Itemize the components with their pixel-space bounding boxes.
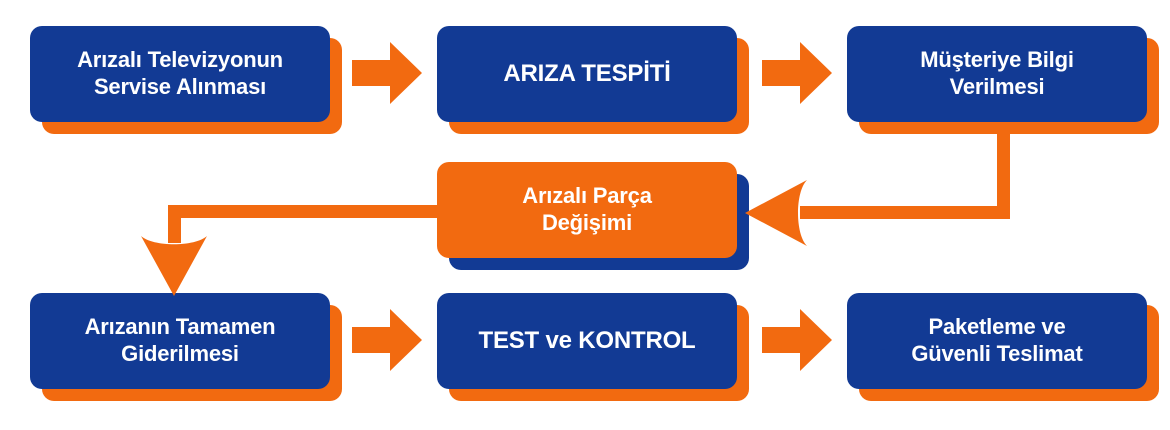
connector-replacement-to-resolved-horizontal	[168, 205, 448, 218]
node-fault-detection-label: ARIZA TESPİTİ	[493, 59, 680, 88]
node-test-control[interactable]: TEST ve KONTROL	[437, 293, 737, 389]
node-fault-detection[interactable]: ARIZA TESPİTİ	[437, 26, 737, 122]
arrow-resolved-to-test	[352, 309, 422, 371]
node-inform-customer-label: Müşteriye Bilgi Verilmesi	[910, 47, 1083, 101]
node-part-replacement[interactable]: Arızalı Parça Değişimi	[437, 162, 737, 258]
arrow-replacement-to-resolved-head	[141, 236, 207, 296]
node-fault-resolved[interactable]: Arızanın Tamamen Giderilmesi	[30, 293, 330, 389]
connector-inform-to-replacement-vertical	[997, 120, 1010, 219]
connector-inform-to-replacement-horizontal	[800, 206, 1010, 219]
node-packaging-delivery-label: Paketleme ve Güvenli Teslimat	[901, 314, 1092, 368]
process-flowchart: Arızalı Televizyonun Servise Alınması AR…	[0, 0, 1170, 430]
node-part-replacement-label: Arızalı Parça Değişimi	[512, 183, 661, 237]
node-fault-resolved-label: Arızanın Tamamen Giderilmesi	[75, 314, 286, 368]
node-intake[interactable]: Arızalı Televizyonun Servise Alınması	[30, 26, 330, 122]
node-intake-label: Arızalı Televizyonun Servise Alınması	[67, 47, 293, 101]
arrow-inform-to-replacement-head	[745, 180, 807, 246]
arrow-test-to-packaging	[762, 309, 832, 371]
node-test-control-label: TEST ve KONTROL	[468, 326, 705, 355]
arrow-intake-to-detection	[352, 42, 422, 104]
node-packaging-delivery[interactable]: Paketleme ve Güvenli Teslimat	[847, 293, 1147, 389]
node-inform-customer[interactable]: Müşteriye Bilgi Verilmesi	[847, 26, 1147, 122]
arrow-detection-to-inform	[762, 42, 832, 104]
